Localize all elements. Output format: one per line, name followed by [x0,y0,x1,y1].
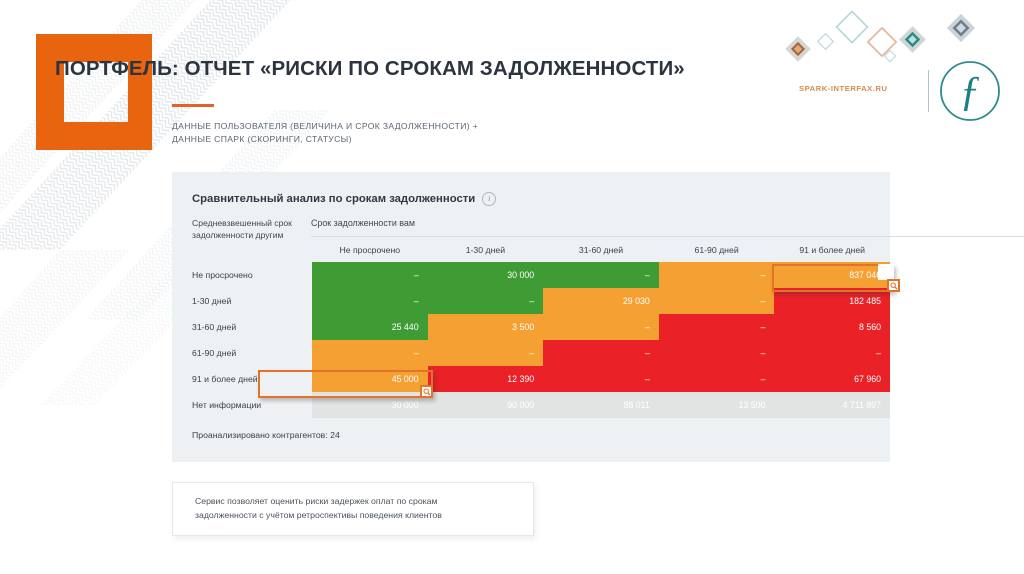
column-header-1: 1-30 дней [428,240,544,262]
table-row: Не просрочено–30 000––837 046 [192,262,890,288]
matrix-cell-r0-c0[interactable]: – [312,262,428,288]
row-header-2: 31-60 дней [192,314,312,340]
heatmap-grid: Не просрочено 1-30 дней 31-60 дней 61-90… [192,240,892,418]
subtitle-line-2: ДАННЫЕ СПАРК (СКОРИНГИ, СТАТУСЫ) [172,133,692,147]
matrix-cell-r2-c3[interactable]: – [659,314,775,340]
risk-matrix-table: Не просрочено 1-30 дней 31-60 дней 61-90… [192,240,890,418]
matrix-cell-r5-c1[interactable]: 90 000 [428,392,544,418]
matrix-cell-r4-c4[interactable]: 67 960 [774,366,890,392]
matrix-cell-r3-c4[interactable]: – [774,340,890,366]
info-icon[interactable]: i [482,192,496,206]
page-title: ПОРТФЕЛЬ: ОТЧЕТ «РИСКИ ПО СРОКАМ ЗАДОЛЖЕ… [55,57,685,81]
monogram-circle: ƒ [941,62,999,120]
matrix-cell-r5-c0[interactable]: 30 000 [312,392,428,418]
matrix-cell-r0-c3[interactable]: – [659,262,775,288]
panel-title-row: Сравнительный анализ по срокам задолженн… [192,192,496,206]
matrix-cell-r2-c2[interactable]: – [543,314,659,340]
footnote-line-1: Сервис позволяет оценить риски задержек … [195,496,437,506]
matrix-cell-r3-c3[interactable]: – [659,340,775,366]
matrix-cell-r2-c1[interactable]: 3 500 [428,314,544,340]
column-header-0: Не просрочено [312,240,428,262]
row-header-1: 1-30 дней [192,288,312,314]
subtitle-line-1: ДАННЫЕ ПОЛЬЗОВАТЕЛЯ (ВЕЛИЧИНА И СРОК ЗАД… [172,120,692,134]
table-row: 91 и более дней45 00012 390––67 960 [192,366,890,392]
matrix-cell-r2-c4[interactable]: 8 560 [774,314,890,340]
analyzed-counterparties-label: Проанализировано контрагентов: 24 [192,430,340,440]
matrix-cell-r4-c2[interactable]: – [543,366,659,392]
row-header-0: Не просрочено [192,262,312,288]
matrix-cell-r4-c1[interactable]: 12 390 [428,366,544,392]
table-row: 61-90 дней––––– [192,340,890,366]
corner-cell [192,240,312,262]
matrix-cell-r5-c2[interactable]: 88 011 [543,392,659,418]
footnote-card: Сервис позволяет оценить риски задержек … [172,482,534,536]
column-header-divider [311,236,1024,237]
matrix-cell-r0-c4[interactable]: 837 046 [774,262,890,288]
matrix-cell-r1-c1[interactable]: – [428,288,544,314]
svg-text:ƒ: ƒ [960,69,981,115]
matrix-cell-r3-c2[interactable]: – [543,340,659,366]
highlight-magnifier-bottom[interactable] [420,385,433,398]
matrix-cell-r1-c3[interactable]: – [659,288,775,314]
highlight-notch-top [878,264,894,280]
matrix-cell-r3-c0[interactable]: – [312,340,428,366]
table-row: 31-60 дней25 4403 500––8 560 [192,314,890,340]
page-title-bar: ПОРТФЕЛЬ: ОТЧЕТ «РИСКИ ПО СРОКАМ ЗАДОЛЖЕ… [55,52,755,86]
row-header-4: 91 и более дней [192,366,312,392]
subtitle-block: ДАННЫЕ ПОЛЬЗОВАТЕЛЯ (ВЕЛИЧИНА И СРОК ЗАД… [172,104,692,147]
panel-title: Сравнительный анализ по срокам задолженн… [192,193,475,205]
footnote-text: Сервис позволяет оценить риски задержек … [195,494,515,522]
matrix-cell-r1-c0[interactable]: – [312,288,428,314]
matrix-cell-r4-c0[interactable]: 45 000 [312,366,428,392]
report-panel: Сравнительный анализ по срокам задолженн… [172,172,890,462]
matrix-cell-r5-c4[interactable]: 4 711 897 [774,392,890,418]
highlight-magnifier-top[interactable] [887,279,900,292]
table-row: 1-30 дней––29 030–182 485 [192,288,890,314]
column-header-2: 31-60 дней [543,240,659,262]
brand-divider [928,70,929,112]
table-row: Нет информации30 00090 00088 01113 5004 … [192,392,890,418]
matrix-cell-r0-c1[interactable]: 30 000 [428,262,544,288]
column-group-title: Срок задолженности вам [311,218,415,228]
table-header-row: Не просрочено 1-30 дней 31-60 дней 61-90… [192,240,890,262]
brand-wordmark: SPARK-INTERFAX.RU [799,84,888,93]
decorative-diamonds [785,11,975,61]
row-header-5: Нет информации [192,392,312,418]
matrix-cell-r4-c3[interactable]: – [659,366,775,392]
matrix-cell-r1-c2[interactable]: 29 030 [543,288,659,314]
matrix-cell-r1-c4[interactable]: 182 485 [774,288,890,314]
subtitle-accent-rule [172,104,214,107]
matrix-cell-r3-c1[interactable]: – [428,340,544,366]
brand-logo-cluster: ƒ [776,8,1016,126]
row-group-title: Средневзвешенный срок задолженности друг… [192,218,304,241]
search-icon [890,282,898,290]
footnote-line-2: задолженности с учётом ретроспективы пов… [195,510,442,520]
matrix-cell-r5-c3[interactable]: 13 500 [659,392,775,418]
matrix-body: Не просрочено–30 000––837 0461-30 дней––… [192,262,890,418]
matrix-cell-r0-c2[interactable]: – [543,262,659,288]
row-header-3: 61-90 дней [192,340,312,366]
search-icon [423,388,431,396]
matrix-cell-r2-c0[interactable]: 25 440 [312,314,428,340]
column-header-4: 91 и более дней [774,240,890,262]
column-header-3: 61-90 дней [659,240,775,262]
